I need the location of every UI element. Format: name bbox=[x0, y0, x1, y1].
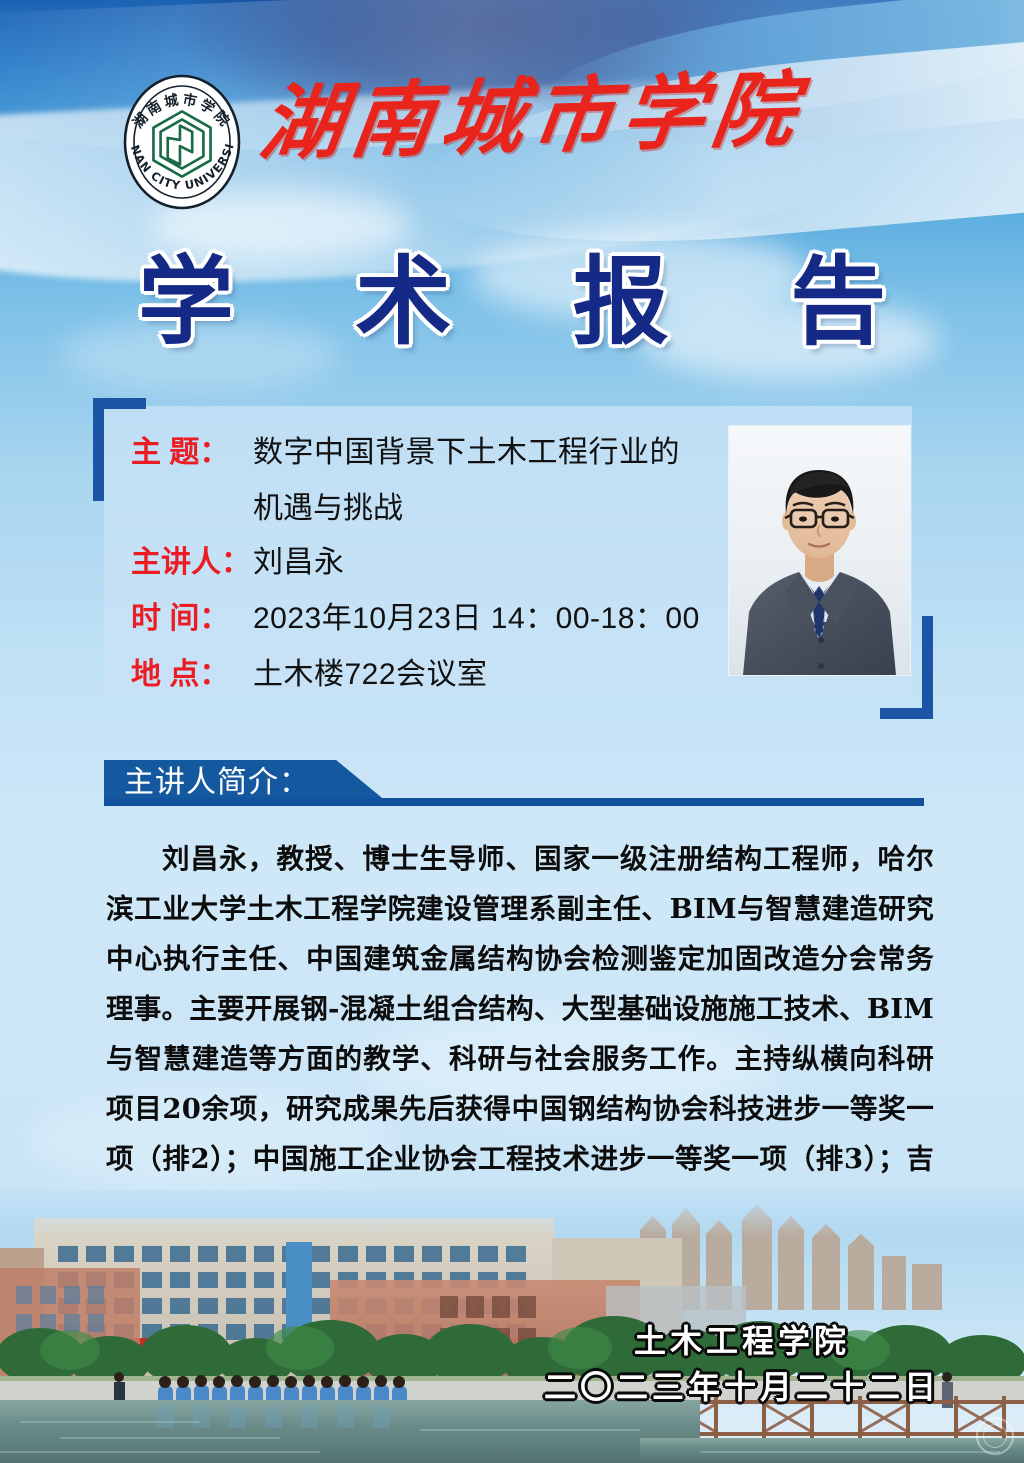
bio-section-title: 主讲人简介： bbox=[124, 760, 310, 806]
info-value-venue: 土木楼722会议室 bbox=[253, 648, 488, 702]
university-name: 湖南城市学院 bbox=[256, 69, 809, 165]
info-row-speaker: 主讲人： 刘昌永 bbox=[131, 536, 731, 590]
info-label-topic: 主 题： bbox=[131, 426, 253, 480]
info-label-venue: 地 点： bbox=[131, 648, 253, 702]
info-value-topic-line2: 机遇与挑战 bbox=[253, 482, 731, 536]
watermark-seal-icon bbox=[976, 1417, 1014, 1455]
info-value-speaker: 刘昌永 bbox=[253, 536, 345, 590]
info-row-topic: 主 题： 数字中国背景下土木工程行业的 bbox=[131, 426, 731, 480]
speaker-portrait bbox=[729, 426, 910, 675]
footer-signature: 土木工程学院 二〇二三年十月二十二日 bbox=[544, 1318, 940, 1410]
footer-date: 二〇二三年十月二十二日 bbox=[544, 1364, 940, 1410]
info-label-time: 时 间： bbox=[131, 592, 253, 646]
info-value-topic: 数字中国背景下土木工程行业的 bbox=[253, 426, 680, 480]
info-row-venue: 地 点： 土木楼722会议室 bbox=[131, 648, 731, 702]
poster-root: HUNAN CITY UNIVERSITY 湖南城市学院 湖南城市学院 学 术 … bbox=[0, 0, 1024, 1463]
footer-organizer: 土木工程学院 bbox=[544, 1318, 940, 1364]
info-value-time: 2023年10月23日 14：00-18：00 bbox=[253, 592, 700, 646]
university-logo: HUNAN CITY UNIVERSITY 湖南城市学院 bbox=[112, 68, 252, 216]
bio-section-header: 主讲人简介： bbox=[104, 760, 924, 806]
event-info-rows: 主 题： 数字中国背景下土木工程行业的 机遇与挑战 主讲人： 刘昌永 时 间： … bbox=[131, 426, 731, 704]
info-row-time: 时 间： 2023年10月23日 14：00-18：00 bbox=[131, 592, 731, 646]
page-title: 学 术 报 告 bbox=[0, 250, 1024, 354]
campus-top-fade bbox=[0, 1190, 1024, 1236]
info-label-speaker: 主讲人： bbox=[131, 536, 253, 590]
